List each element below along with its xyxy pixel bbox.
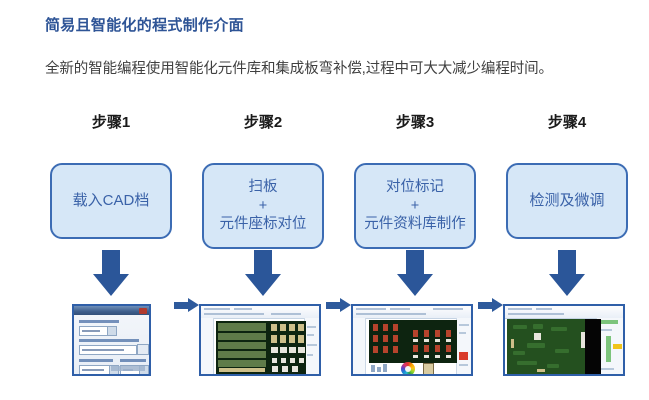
flow-step-3: 步骤3 — [354, 112, 476, 134]
window-left-panel — [353, 318, 366, 374]
arrow-right-icon — [326, 298, 352, 312]
component-inspection-view — [369, 320, 457, 363]
dialog-footer-buttons — [111, 366, 145, 371]
pcb-board-view — [216, 321, 306, 374]
window-left-panel — [201, 318, 214, 374]
step-2-label: 步骤2 — [202, 112, 324, 134]
arrow-down-icon — [93, 250, 129, 296]
close-icon — [139, 308, 147, 314]
dialog-body — [74, 315, 149, 374]
flow-step-1: 步骤1 — [50, 112, 172, 134]
cad-import-dialog-screenshot[interactable] — [72, 304, 151, 376]
arrow-right-icon — [174, 298, 200, 312]
window-right-panel — [304, 318, 319, 374]
arrow-down-icon — [549, 250, 585, 296]
step-1-box[interactable]: 载入CAD档 — [50, 163, 172, 239]
board-scan-alignment-screenshot[interactable] — [199, 304, 321, 376]
step-4-label: 步骤4 — [506, 112, 628, 134]
page-title: 简易且智能化的程式制作介面 — [45, 14, 244, 35]
arrow-down-icon — [245, 250, 281, 296]
pcb-inspection-view — [507, 319, 585, 374]
color-wheel-icon — [401, 362, 415, 374]
window-right-panel — [456, 318, 471, 374]
inspection-tuning-screenshot[interactable] — [503, 304, 625, 376]
step-2-box[interactable]: 扫板 + 元件座标对位 — [202, 163, 324, 249]
image-black-region — [585, 319, 601, 374]
flow-step-4: 步骤4 — [506, 112, 628, 134]
step-3-box[interactable]: 对位标记 + 元件资料库制作 — [354, 163, 476, 249]
step-3-label: 步骤3 — [354, 112, 476, 134]
page-subtitle: 全新的智能编程使用智能化元件库和集成板弯补偿,过程中可大大减少编程时间。 — [45, 57, 553, 78]
step-1-label: 步骤1 — [50, 112, 172, 134]
dialog-title-bar — [74, 306, 149, 315]
step-4-box[interactable]: 检测及微调 — [506, 163, 628, 239]
component-preview-icon — [423, 363, 434, 374]
process-flow-diagram: 步骤1 载入CAD档 步骤2 扫板 + 元件座标对位 步骤3 对位标记 + 元件… — [0, 112, 649, 252]
flow-step-2: 步骤2 — [202, 112, 324, 134]
fiducial-library-screenshot[interactable] — [351, 304, 473, 376]
arrow-down-icon — [397, 250, 433, 296]
window-toolbar — [201, 306, 319, 319]
arrow-right-icon — [478, 298, 504, 312]
window-toolbar — [353, 306, 471, 319]
